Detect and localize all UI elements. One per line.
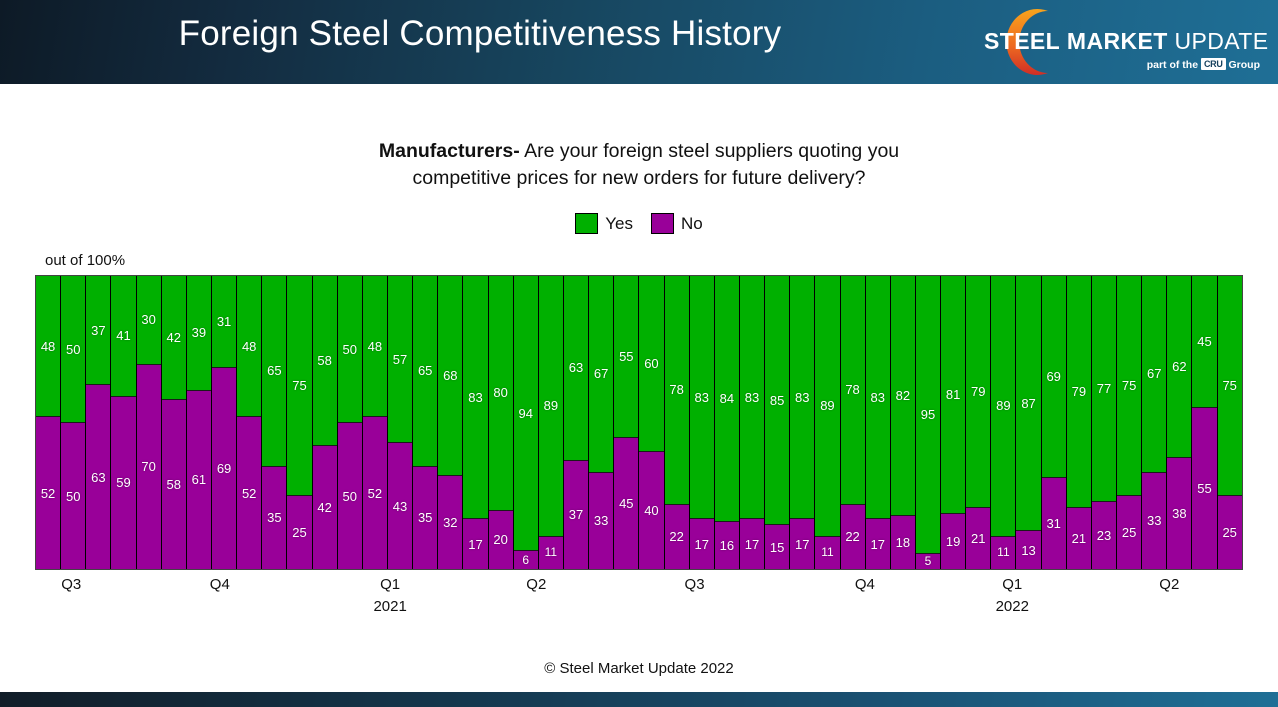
legend-label-yes: Yes: [605, 214, 633, 234]
bar-segment-yes: 62: [1167, 276, 1191, 458]
bar-segment-yes: 79: [1067, 276, 1091, 508]
stacked-bar[interactable]: 7525: [287, 276, 312, 569]
chart-question-title: Manufacturers- Are your foreign steel su…: [0, 138, 1278, 192]
bar-value-label-no: 17: [694, 538, 708, 551]
bar-segment-yes: 78: [841, 276, 865, 505]
bar-value-label-yes: 31: [217, 315, 231, 328]
bar-value-label-yes: 89: [544, 399, 558, 412]
bar-segment-no: 23: [1092, 502, 1116, 569]
bar-value-label-no: 11: [997, 546, 1009, 559]
bar-value-label-no: 21: [1072, 532, 1086, 545]
bar-segment-yes: 37: [86, 276, 110, 385]
bar-value-label-yes: 62: [1172, 360, 1186, 373]
bar-segment-yes: 31: [212, 276, 236, 368]
bar-value-label-yes: 41: [116, 329, 130, 342]
bar-segment-no: 21: [966, 508, 990, 569]
bar-value-label-yes: 79: [971, 385, 985, 398]
bar-value-label-no: 23: [1097, 529, 1111, 542]
stacked-bar[interactable]: 7921: [1067, 276, 1092, 569]
bar-value-label-no: 25: [1222, 526, 1236, 539]
bar-value-label-no: 25: [1122, 526, 1136, 539]
bar-segment-no: 33: [1142, 473, 1166, 569]
stacked-bar[interactable]: 955: [916, 276, 941, 569]
bar-segment-yes: 78: [665, 276, 689, 505]
chart-plot-area: 4852505037634159307042583961316948526535…: [35, 275, 1243, 570]
stacked-bar[interactable]: 5743: [388, 276, 413, 569]
legend-swatch-yes-icon: [575, 213, 598, 234]
bar-segment-yes: 75: [287, 276, 311, 496]
stacked-bar[interactable]: 8020: [489, 276, 514, 569]
x-axis-tick-3: Q2: [526, 576, 546, 593]
bar-value-label-yes: 67: [594, 367, 608, 380]
bar-segment-yes: 77: [1092, 276, 1116, 502]
bar-value-label-no: 17: [745, 538, 759, 551]
bar-segment-yes: 48: [363, 276, 387, 417]
bar-segment-yes: 60: [639, 276, 663, 452]
stacked-bar[interactable]: 3763: [86, 276, 111, 569]
bar-value-label-no: 45: [619, 497, 633, 510]
bar-value-label-no: 37: [569, 508, 583, 521]
bar-segment-yes: 30: [137, 276, 161, 365]
bar-segment-no: 11: [991, 537, 1015, 569]
x-axis-quarter-label: Q2: [1159, 576, 1179, 593]
stacked-bar[interactable]: 6535: [262, 276, 287, 569]
bar-segment-yes: 87: [1016, 276, 1040, 531]
bar-value-label-no: 31: [1046, 517, 1060, 530]
stacked-bar[interactable]: 6238: [1167, 276, 1192, 569]
bar-segment-no: 6: [514, 551, 538, 569]
bar-segment-no: 17: [463, 519, 487, 569]
bar-value-label-no: 22: [845, 530, 859, 543]
bar-value-label-no: 50: [66, 490, 80, 503]
x-axis-tick-1: Q4: [210, 576, 230, 593]
bar-value-label-yes: 80: [493, 386, 507, 399]
bar-segment-yes: 48: [36, 276, 60, 417]
bar-value-label-yes: 57: [393, 353, 407, 366]
bar-segment-no: 31: [1042, 478, 1066, 569]
stacked-bar[interactable]: 4852: [36, 276, 61, 569]
bar-value-label-yes: 83: [468, 391, 482, 404]
chart-legend: Yes No: [0, 213, 1278, 234]
bar-segment-yes: 50: [338, 276, 362, 423]
stacked-bar[interactable]: 5842: [313, 276, 338, 569]
bar-value-label-yes: 60: [644, 357, 658, 370]
bar-value-label-no: 61: [192, 473, 206, 486]
stacked-bar[interactable]: 6733: [1142, 276, 1167, 569]
bar-segment-yes: 42: [162, 276, 186, 400]
bar-segment-no: 70: [137, 365, 161, 569]
bar-value-label-yes: 42: [167, 331, 181, 344]
bar-segment-no: 25: [1117, 496, 1141, 569]
bar-value-label-yes: 83: [795, 391, 809, 404]
bar-value-label-yes: 78: [845, 383, 859, 396]
x-axis-quarter-label: Q1: [380, 576, 400, 593]
bar-segment-no: 25: [287, 496, 311, 569]
bar-value-label-no: 20: [493, 533, 507, 546]
bar-segment-no: 17: [690, 519, 714, 569]
bar-value-label-yes: 77: [1097, 382, 1111, 395]
bar-segment-yes: 89: [815, 276, 839, 537]
bar-segment-yes: 45: [1192, 276, 1216, 408]
bar-segment-yes: 79: [966, 276, 990, 508]
bar-segment-yes: 81: [941, 276, 965, 514]
bar-segment-yes: 48: [237, 276, 261, 417]
x-axis-quarter-label: Q4: [855, 576, 875, 593]
bar-value-label-yes: 37: [91, 324, 105, 337]
bar-value-label-yes: 84: [720, 392, 734, 405]
brand-logo: STEEL MARKET UPDATE part of the CRU Grou…: [984, 6, 1260, 80]
bar-segment-no: 11: [539, 537, 563, 569]
bar-segment-no: 38: [1167, 458, 1191, 569]
stacked-bar[interactable]: 6832: [438, 276, 463, 569]
stacked-bar[interactable]: 8911: [539, 276, 564, 569]
bar-segment-yes: 75: [1117, 276, 1141, 496]
bar-segment-yes: 85: [765, 276, 789, 525]
bar-segment-no: 43: [388, 443, 412, 569]
bar-value-label-yes: 85: [770, 394, 784, 407]
x-axis-quarter-label: Q3: [685, 576, 705, 593]
footer-bar: [0, 692, 1278, 707]
bar-value-label-no: 6: [522, 554, 529, 567]
stacked-bar[interactable]: 7822: [665, 276, 690, 569]
bar-segment-no: 19: [941, 514, 965, 569]
bar-segment-no: 52: [237, 417, 261, 569]
copyright-credit: © Steel Market Update 2022: [0, 660, 1278, 677]
x-axis-tick-5: Q4: [855, 576, 875, 593]
bar-value-label-yes: 67: [1147, 367, 1161, 380]
bar-segment-no: 33: [589, 473, 613, 569]
stacked-bar[interactable]: 8317: [790, 276, 815, 569]
bar-value-label-yes: 48: [41, 340, 55, 353]
stacked-bar[interactable]: 7921: [966, 276, 991, 569]
bar-segment-no: 63: [86, 385, 110, 569]
x-axis-year-label: 2021: [373, 598, 406, 615]
bar-segment-yes: 83: [463, 276, 487, 519]
bar-value-label-yes: 75: [1222, 379, 1236, 392]
bar-segment-no: 35: [262, 467, 286, 569]
bar-value-label-no: 52: [368, 487, 382, 500]
stacked-bar[interactable]: 8317: [690, 276, 715, 569]
chart-title-rest: Are your foreign steel suppliers quoting…: [520, 140, 899, 162]
stacked-bar[interactable]: 8317: [866, 276, 891, 569]
bar-segment-no: 11: [815, 537, 839, 569]
legend-label-no: No: [681, 214, 703, 234]
bar-value-label-no: 43: [393, 500, 407, 513]
logo-tagline-pre: part of the: [1147, 59, 1198, 71]
bar-value-label-no: 38: [1172, 507, 1186, 520]
bar-value-label-no: 5: [925, 555, 932, 568]
bar-segment-no: 58: [162, 400, 186, 569]
bar-segment-no: 52: [363, 417, 387, 569]
bar-value-label-yes: 48: [242, 340, 256, 353]
bar-value-label-yes: 48: [368, 340, 382, 353]
stacked-bar[interactable]: 7525: [1218, 276, 1242, 569]
stacked-bar[interactable]: 4852: [363, 276, 388, 569]
bar-segment-no: 25: [1218, 496, 1242, 569]
bar-value-label-yes: 89: [820, 399, 834, 412]
stacked-bar[interactable]: 6337: [564, 276, 589, 569]
x-axis-tick-2: Q12021: [373, 576, 406, 615]
bar-segment-yes: 95: [916, 276, 940, 554]
y-axis-note: out of 100%: [45, 252, 125, 269]
stacked-bar[interactable]: 8317: [463, 276, 488, 569]
bar-segment-yes: 50: [61, 276, 85, 423]
stacked-bar[interactable]: 7822: [841, 276, 866, 569]
stacked-bar[interactable]: 4852: [237, 276, 262, 569]
bar-segment-yes: 41: [111, 276, 135, 397]
stacked-bar[interactable]: 5050: [338, 276, 363, 569]
bar-segment-yes: 89: [991, 276, 1015, 537]
x-axis-quarter-label: Q1: [1002, 576, 1022, 593]
bar-value-label-no: 33: [594, 514, 608, 527]
stacked-bar[interactable]: 5050: [61, 276, 86, 569]
bar-value-label-yes: 81: [946, 388, 960, 401]
stacked-bar[interactable]: 7525: [1117, 276, 1142, 569]
bar-value-label-no: 35: [267, 511, 281, 524]
stacked-bar[interactable]: 8317: [740, 276, 765, 569]
page-title: Foreign Steel Competitiveness History: [0, 14, 960, 54]
stacked-bar[interactable]: 4159: [111, 276, 136, 569]
stacked-bar[interactable]: 6040: [639, 276, 664, 569]
bar-segment-no: 37: [564, 461, 588, 569]
x-axis-quarter-label: Q3: [61, 576, 81, 593]
legend-item-no[interactable]: No: [651, 213, 703, 234]
bar-segment-yes: 57: [388, 276, 412, 443]
bar-segment-no: 22: [665, 505, 689, 569]
stacked-bar[interactable]: 3961: [187, 276, 212, 569]
bar-segment-yes: 82: [891, 276, 915, 516]
bar-segment-no: 21: [1067, 508, 1091, 569]
bar-segment-yes: 83: [866, 276, 890, 519]
stacked-bar[interactable]: 7723: [1092, 276, 1117, 569]
stacked-bar[interactable]: 6535: [413, 276, 438, 569]
stacked-bar[interactable]: 3169: [212, 276, 237, 569]
bar-segment-yes: 80: [489, 276, 513, 511]
bar-value-label-no: 69: [217, 462, 231, 475]
header-banner: Foreign Steel Competitiveness History ST…: [0, 0, 1278, 84]
bar-value-label-yes: 75: [292, 379, 306, 392]
bar-segment-yes: 39: [187, 276, 211, 391]
bar-value-label-yes: 87: [1021, 397, 1035, 410]
bar-value-label-yes: 79: [1072, 385, 1086, 398]
stacked-bar[interactable]: 8911: [991, 276, 1016, 569]
bar-segment-yes: 84: [715, 276, 739, 522]
bar-segment-no: 20: [489, 511, 513, 569]
bar-segment-yes: 65: [413, 276, 437, 467]
stacked-bar[interactable]: 8515: [765, 276, 790, 569]
bar-segment-yes: 75: [1218, 276, 1242, 496]
bar-value-label-no: 13: [1021, 544, 1035, 557]
bar-segment-yes: 67: [1142, 276, 1166, 473]
logo-word-market: MARKET: [1067, 28, 1168, 54]
bar-value-label-yes: 50: [343, 343, 357, 356]
logo-word-steel: STEEL: [984, 28, 1060, 54]
x-axis-quarter-label: Q2: [526, 576, 546, 593]
bar-segment-no: 17: [790, 519, 814, 569]
bar-value-label-no: 11: [821, 546, 833, 559]
bar-value-label-no: 18: [896, 536, 910, 549]
bar-value-label-yes: 82: [896, 389, 910, 402]
bar-segment-yes: 83: [790, 276, 814, 519]
bar-segment-yes: 68: [438, 276, 462, 476]
bar-segment-no: 55: [1192, 408, 1216, 569]
bar-segment-no: 17: [740, 519, 764, 569]
bar-value-label-no: 55: [1197, 482, 1211, 495]
bar-value-label-yes: 75: [1122, 379, 1136, 392]
bar-value-label-yes: 83: [694, 391, 708, 404]
stacked-bar[interactable]: 6931: [1042, 276, 1067, 569]
bar-segment-no: 32: [438, 476, 462, 569]
bar-segment-no: 45: [614, 438, 638, 569]
x-axis-year-label: 2022: [996, 598, 1029, 615]
bar-value-label-no: 17: [468, 538, 482, 551]
legend-swatch-no-icon: [651, 213, 674, 234]
bar-value-label-yes: 83: [745, 391, 759, 404]
bar-value-label-no: 33: [1147, 514, 1161, 527]
bar-value-label-yes: 83: [870, 391, 884, 404]
stacked-bar[interactable]: 4555: [1192, 276, 1217, 569]
bar-segment-no: 42: [313, 446, 337, 569]
bar-segment-no: 40: [639, 452, 663, 569]
bar-value-label-no: 59: [116, 476, 130, 489]
chart-title-line2: competitive prices for new orders for fu…: [0, 165, 1278, 192]
bar-segment-no: 50: [338, 423, 362, 569]
bar-value-label-yes: 78: [669, 383, 683, 396]
bar-value-label-yes: 68: [443, 369, 457, 382]
bar-value-label-yes: 65: [418, 364, 432, 377]
bar-segment-no: 17: [866, 519, 890, 569]
bar-segment-no: 16: [715, 522, 739, 569]
chart-title-bold: Manufacturers-: [379, 140, 520, 162]
bar-value-label-no: 32: [443, 516, 457, 529]
bar-value-label-no: 22: [669, 530, 683, 543]
bar-value-label-yes: 94: [519, 407, 533, 420]
bar-value-label-no: 17: [870, 538, 884, 551]
bar-segment-yes: 67: [589, 276, 613, 473]
bar-value-label-no: 15: [770, 541, 784, 554]
bar-value-label-no: 16: [720, 539, 734, 552]
bar-value-label-yes: 65: [267, 364, 281, 377]
logo-tagline: part of the CRU Group: [984, 58, 1260, 71]
logo-tagline-post: Group: [1229, 59, 1261, 71]
bar-segment-yes: 83: [690, 276, 714, 519]
bar-value-label-yes: 45: [1197, 335, 1211, 348]
bar-segment-yes: 65: [262, 276, 286, 467]
bar-segment-no: 5: [916, 554, 940, 569]
bar-segment-yes: 69: [1042, 276, 1066, 478]
bar-segment-yes: 94: [514, 276, 538, 551]
bar-value-label-yes: 55: [619, 350, 633, 363]
bar-value-label-no: 11: [545, 546, 557, 559]
bar-value-label-yes: 50: [66, 343, 80, 356]
stacked-bar[interactable]: 3070: [137, 276, 162, 569]
stacked-bar[interactable]: 8119: [941, 276, 966, 569]
bar-segment-yes: 89: [539, 276, 563, 537]
bar-value-label-yes: 30: [141, 313, 155, 326]
bar-value-label-no: 40: [644, 504, 658, 517]
cru-badge-icon: CRU: [1201, 58, 1226, 70]
bar-value-label-no: 50: [343, 490, 357, 503]
x-axis-tick-4: Q3: [685, 576, 705, 593]
slide-root: Foreign Steel Competitiveness History ST…: [0, 0, 1278, 707]
stacked-bar[interactable]: 8713: [1016, 276, 1041, 569]
bar-segment-no: 18: [891, 516, 915, 569]
x-axis-quarter-label: Q4: [210, 576, 230, 593]
bar-segment-no: 69: [212, 368, 236, 569]
stacked-bar[interactable]: 946: [514, 276, 539, 569]
bar-value-label-no: 25: [292, 526, 306, 539]
x-axis-tick-6: Q12022: [996, 576, 1029, 615]
bar-value-label-yes: 39: [192, 326, 206, 339]
bar-segment-yes: 63: [564, 276, 588, 461]
bar-value-label-no: 42: [317, 501, 331, 514]
x-axis-labels: Q3Q4Q12021Q2Q3Q4Q12022Q2: [0, 576, 1278, 636]
bar-segment-no: 59: [111, 397, 135, 569]
bar-segment-yes: 58: [313, 276, 337, 446]
x-axis-tick-7: Q2: [1159, 576, 1179, 593]
bar-segment-no: 15: [765, 525, 789, 569]
bar-value-label-yes: 69: [1046, 370, 1060, 383]
bar-value-label-no: 58: [167, 478, 181, 491]
bar-value-label-no: 17: [795, 538, 809, 551]
bar-value-label-no: 52: [242, 487, 256, 500]
bar-value-label-no: 35: [418, 511, 432, 524]
stacked-bar[interactable]: 8416: [715, 276, 740, 569]
bar-segment-no: 22: [841, 505, 865, 569]
logo-word-update: UPDATE: [1175, 28, 1269, 54]
bar-segment-no: 50: [61, 423, 85, 569]
bar-value-label-yes: 63: [569, 361, 583, 374]
stacked-bar[interactable]: 4258: [162, 276, 187, 569]
bar-value-label-no: 19: [946, 535, 960, 548]
bar-value-label-yes: 95: [921, 408, 935, 421]
bar-value-label-no: 52: [41, 487, 55, 500]
stacked-bar[interactable]: 6733: [589, 276, 614, 569]
x-axis-tick-0: Q3: [61, 576, 81, 593]
bar-value-label-no: 63: [91, 471, 105, 484]
bar-segment-no: 52: [36, 417, 60, 569]
logo-wordmark: STEEL MARKET UPDATE: [984, 28, 1260, 55]
bar-segment-no: 61: [187, 391, 211, 569]
bar-value-label-yes: 58: [317, 354, 331, 367]
bar-segment-no: 13: [1016, 531, 1040, 569]
bar-value-label-yes: 89: [996, 399, 1010, 412]
bar-segment-no: 35: [413, 467, 437, 569]
bar-value-label-no: 70: [141, 460, 155, 473]
bar-value-label-no: 21: [971, 532, 985, 545]
stacked-bar[interactable]: 8911: [815, 276, 840, 569]
bar-segment-yes: 55: [614, 276, 638, 438]
chart-title-line1: Manufacturers- Are your foreign steel su…: [0, 138, 1278, 165]
stacked-bar[interactable]: 5545: [614, 276, 639, 569]
bar-segment-yes: 83: [740, 276, 764, 519]
stacked-bar[interactable]: 8218: [891, 276, 916, 569]
legend-item-yes[interactable]: Yes: [575, 213, 633, 234]
